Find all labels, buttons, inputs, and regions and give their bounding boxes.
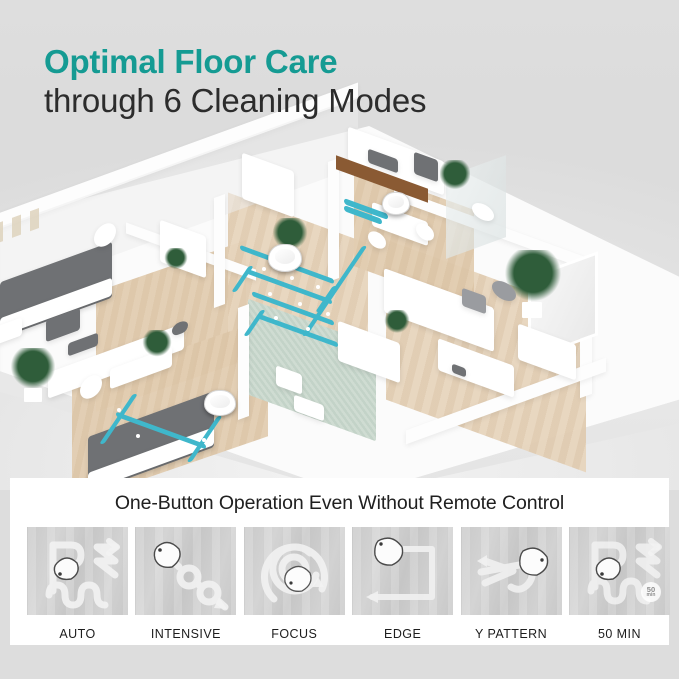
mode-label-focus: FOCUS: [244, 627, 345, 641]
mode-label-edge: EDGE: [352, 627, 453, 641]
mode-label-auto: AUTO: [27, 627, 128, 641]
auto-zigzag-icon: [27, 527, 128, 615]
headline-block: Optimal Floor Care through 6 Cleaning Mo…: [44, 44, 426, 120]
mode-tile-50-min: 50 min: [569, 527, 670, 615]
mode-item-edge[interactable]: EDGE: [352, 527, 453, 615]
plant-entry: [164, 248, 188, 272]
mode-item-50-min[interactable]: 50 min 50 MIN: [569, 527, 670, 615]
fifty-min-zigzag-icon: [569, 527, 670, 615]
cleaning-modes-list: AUTO: [27, 527, 673, 615]
plant-desk: [142, 330, 172, 360]
path-waypoint: [168, 444, 172, 448]
path-waypoint: [316, 285, 320, 289]
wall-hall-right: [328, 158, 339, 282]
wall-bath-left: [238, 304, 249, 420]
wall-hall-left: [214, 194, 225, 308]
mode-label-intensive: INTENSIVE: [135, 627, 236, 641]
mode-tile-intensive: [135, 527, 236, 615]
mode-item-auto[interactable]: AUTO: [27, 527, 128, 615]
path-waypoint: [274, 316, 278, 320]
robot-glyph: [375, 538, 403, 565]
panel-title: One-Button Operation Even Without Remote…: [10, 492, 669, 515]
mode-label-50-min: 50 MIN: [569, 627, 670, 641]
edge-perimeter-icon: [352, 527, 453, 615]
mode-tile-edge: [352, 527, 453, 615]
plant-living-pot: [522, 302, 542, 318]
plant-living-small: [384, 310, 410, 336]
path-waypoint: [117, 408, 121, 412]
floor-plan-model: [0, 126, 679, 490]
headline-line-2: through 6 Cleaning Modes: [44, 83, 426, 120]
intensive-spiral-loops-icon: [135, 527, 236, 615]
robot-vacuum-hall: [268, 244, 302, 272]
path-waypoint: [298, 302, 302, 306]
y-pattern-icon: [461, 527, 562, 615]
robot-vacuum-kitchen: [382, 192, 410, 215]
path-waypoint: [262, 267, 266, 271]
mode-label-y-pattern: Y PATTERN: [461, 627, 562, 641]
path-waypoint: [290, 276, 294, 280]
path-waypoint: [136, 434, 140, 438]
mode-tile-y-pattern: [461, 527, 562, 615]
robot-vacuum-office: [204, 390, 236, 416]
robot-glyph: [596, 558, 620, 579]
mode-tile-focus: [244, 527, 345, 615]
badge-unit: min: [647, 593, 656, 598]
mode-tile-auto: [27, 527, 128, 615]
product-infographic-page: Optimal Floor Care through 6 Cleaning Mo…: [0, 0, 679, 679]
path-waypoint: [326, 312, 330, 316]
headline-line-1: Optimal Floor Care: [44, 44, 426, 81]
robot-glyph: [54, 558, 78, 579]
robot-glyph: [285, 566, 311, 591]
mode-item-intensive[interactable]: INTENSIVE: [135, 527, 236, 615]
mode-item-focus[interactable]: FOCUS: [244, 527, 345, 615]
plant-balcony: [440, 160, 470, 194]
plant-office-pot: [24, 388, 42, 402]
robot-glyph: [155, 542, 181, 567]
focus-spiral-icon: [244, 527, 345, 615]
path-waypoint: [306, 327, 310, 331]
path-waypoint: [268, 292, 272, 296]
fifty-min-badge: 50 min: [641, 582, 661, 602]
robot-glyph: [519, 548, 547, 575]
path-waypoint: [202, 438, 206, 442]
cleaning-modes-panel: One-Button Operation Even Without Remote…: [10, 478, 669, 645]
mode-item-y-pattern[interactable]: Y PATTERN: [461, 527, 562, 615]
